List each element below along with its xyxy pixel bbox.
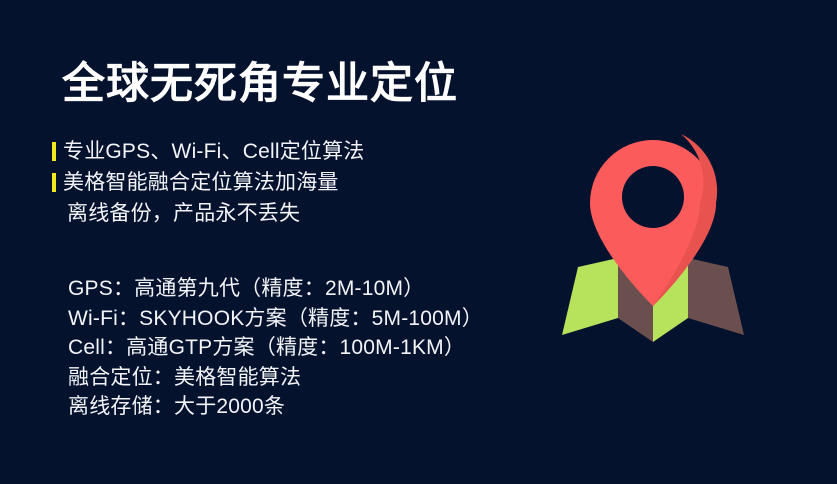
bullet-text: 专业GPS、Wi-Fi、Cell定位算法 [63,138,365,165]
map-panel-green-left [562,258,618,335]
bullet-item: 专业GPS、Wi-Fi、Cell定位算法 [52,138,482,169]
map-panel-brown-right [688,258,744,335]
page-title: 全球无死角专业定位 [62,62,458,107]
spec-line-offline-store: 离线存储：大于2000条 [68,392,483,422]
pin-hole [622,166,684,228]
feature-bullet-list: 专业GPS、Wi-Fi、Cell定位算法 美格智能融合定位算法加海量 离线备份，… [52,138,482,231]
bullet-marker-placeholder [52,204,56,223]
spec-line-gps: GPS：高通第九代（精度：2M-10M） [68,274,483,304]
spec-line-fusion: 融合定位：美格智能算法 [68,363,483,393]
bullet-marker-icon [52,142,56,161]
bullet-text: 美格智能融合定位算法加海量 [63,169,339,196]
bullet-item-continuation: 离线备份，产品永不丢失 [52,200,482,231]
bullet-item: 美格智能融合定位算法加海量 [52,169,482,200]
spec-line-wifi: Wi-Fi：SKYHOOK方案（精度：5M-100M） [68,304,483,334]
bullet-text: 离线备份，产品永不丢失 [63,200,300,227]
spec-line-cell: Cell：高通GTP方案（精度：100M-1KM） [68,333,483,363]
spec-list: GPS：高通第九代（精度：2M-10M） Wi-Fi：SKYHOOK方案（精度：… [68,274,483,422]
map-pin-illustration [520,110,780,370]
slide-canvas: 全球无死角专业定位 专业GPS、Wi-Fi、Cell定位算法 美格智能融合定位算… [0,0,837,484]
bullet-marker-icon [52,173,56,192]
